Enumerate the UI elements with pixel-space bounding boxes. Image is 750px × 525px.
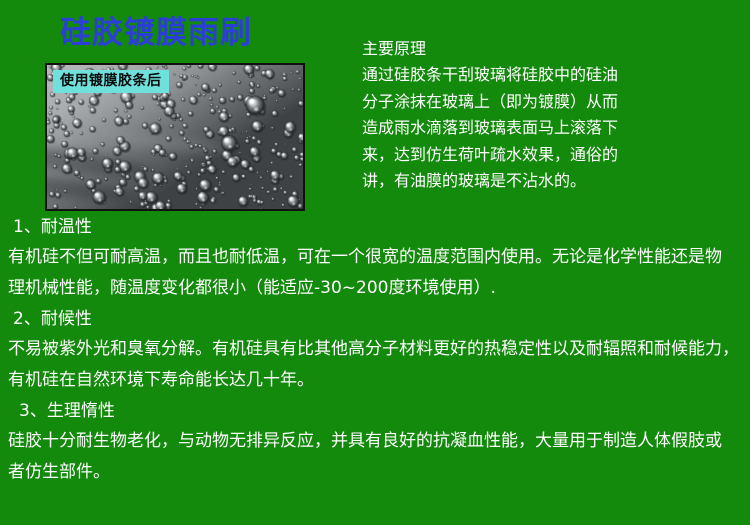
principle-intro: 主要原理 通过硅胶条干刮玻璃将硅胶中的硅油 分子涂抹在玻璃上（即为镀膜）从而 造…	[362, 36, 742, 195]
principle-line: 通过硅胶条干刮玻璃将硅胶中的硅油	[362, 62, 742, 89]
feature-sections: 1、耐温性 有机硅不但可耐高温，而且也耐低温，可在一个很宽的温度范围内使用。无论…	[0, 212, 750, 488]
principle-heading: 主要原理	[362, 36, 742, 62]
section-line: 不易被紫外光和臭氧分解。有机硅具有比其他高分子材料更好的热稳定性以及耐辐照和耐候…	[0, 334, 750, 365]
principle-line: 造成雨水滴落到玻璃表面马上滚落下	[362, 115, 742, 142]
principle-line: 讲，有油膜的玻璃是不沾水的。	[362, 168, 742, 195]
section-line: 有机硅不但可耐高温，而且也耐低温，可在一个很宽的温度范围内使用。无论是化学性能还…	[0, 242, 750, 273]
section-heading: 2、耐候性	[0, 304, 750, 334]
section-line: 理机械性能，随温度变化都很小（能适应-30~200度环境使用）.	[0, 273, 750, 304]
feature-section-temperature-resistance: 1、耐温性 有机硅不但可耐高温，而且也耐低温，可在一个很宽的温度范围内使用。无论…	[0, 212, 750, 304]
section-line: 硅胶十分耐生物老化，与动物无排异反应，并具有良好的抗凝血性能，大量用于制造人体假…	[0, 426, 750, 457]
page-title: 硅胶镀膜雨刷	[60, 16, 252, 50]
section-line: 者仿生部件。	[0, 457, 750, 488]
principle-line: 分子涂抹在玻璃上（即为镀膜）从而	[362, 89, 742, 116]
product-photo: 使用镀膜胶条后	[45, 63, 305, 211]
feature-section-weather-resistance: 2、耐候性 不易被紫外光和臭氧分解。有机硅具有比其他高分子材料更好的热稳定性以及…	[0, 304, 750, 396]
photo-caption-badge: 使用镀膜胶条后	[53, 70, 169, 93]
section-line: 有机硅在自然环境下寿命能长达几十年。	[0, 365, 750, 396]
principle-line: 来，达到仿生荷叶疏水效果，通俗的	[362, 142, 742, 169]
feature-section-physiological-inertness: 3、生理惰性 硅胶十分耐生物老化，与动物无排异反应，并具有良好的抗凝血性能，大量…	[0, 396, 750, 488]
product-detail-page: 硅胶镀膜雨刷 使用镀膜胶条后 主要原理 通过硅胶条干刮玻璃将硅胶中的硅油 分子涂…	[0, 0, 750, 525]
section-heading: 3、生理惰性	[0, 396, 750, 426]
section-heading: 1、耐温性	[0, 212, 750, 242]
